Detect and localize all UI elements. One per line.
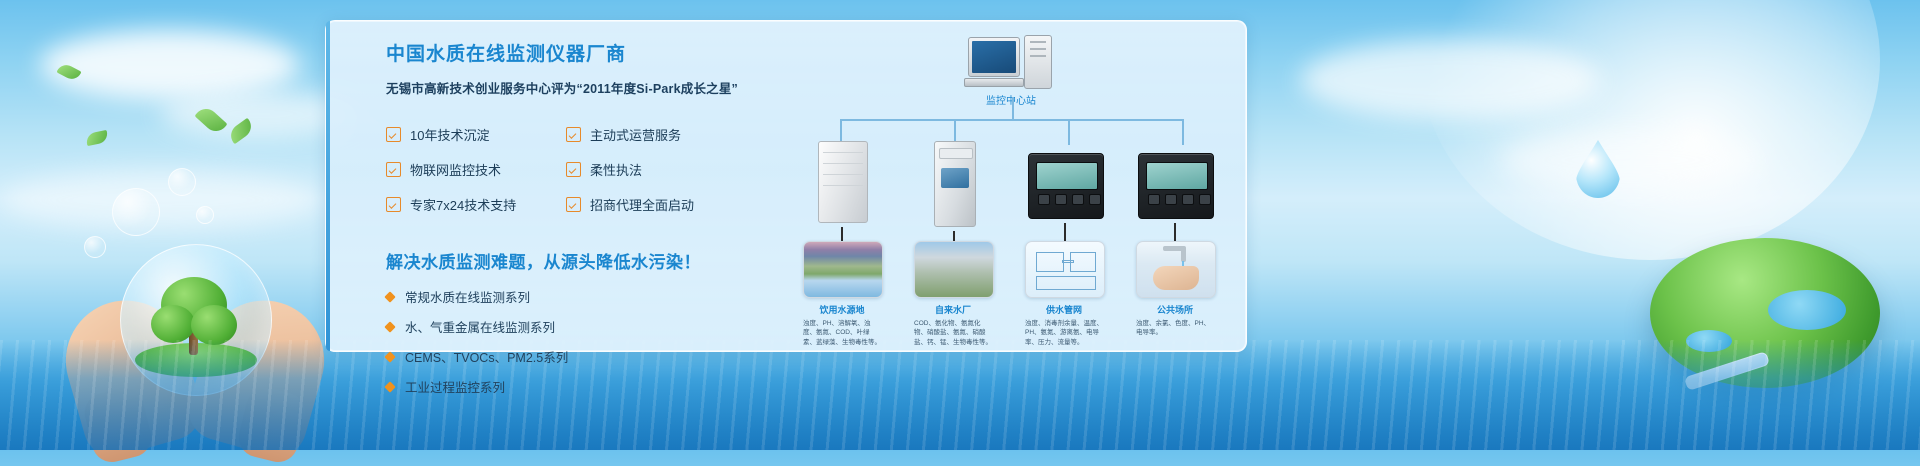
scene-card: 供水管网 浊度、消毒剂余量、温度、PH、氨氮、游离氨、电导率、压力、流量等。 xyxy=(1025,241,1103,347)
list-item: 工业过程监控系列 xyxy=(386,377,786,396)
controller-display xyxy=(1036,162,1098,190)
cloud-5 xyxy=(0,170,320,230)
scene-image-public-place xyxy=(1136,241,1216,298)
scene-image-water-plant xyxy=(914,241,994,298)
diamond-bullet-icon xyxy=(384,351,395,362)
scene-caption: 公共场所 xyxy=(1136,303,1214,316)
scene-description: COD、氨化物、氨氮化物、硝酸盐、氨氮、硝酸盐、钙、锰、生物毒性等。 xyxy=(914,319,992,347)
checkbox-icon xyxy=(566,127,581,142)
device-controller-2 xyxy=(1138,153,1214,219)
scene-card: 饮用水源地 浊度、PH、溶解氧、浊度、氨氮、COD、叶绿素、蓝绿藻、生物毒性等。 xyxy=(803,241,881,347)
pc-tower-icon xyxy=(1024,35,1052,89)
scene-row: 饮用水源地 浊度、PH、溶解氧、浊度、氨氮、COD、叶绿素、蓝绿藻、生物毒性等。… xyxy=(796,241,1236,341)
sea-shine xyxy=(0,340,1920,450)
center-station-label: 监控中心站 xyxy=(951,92,1071,107)
analyzer-icon xyxy=(934,141,976,227)
feature-item: 10年技术沉淀 xyxy=(386,125,566,144)
checkbox-icon xyxy=(386,162,401,177)
device-water-cabinet xyxy=(818,141,868,223)
computer-icon xyxy=(968,37,1054,89)
cabinet-icon xyxy=(818,141,868,223)
left-content-column: 中国水质在线监测仪器厂商 无锡市高新技术创业服务中心评为“2011年度Si-Pa… xyxy=(386,39,786,396)
controller-buttons xyxy=(1148,194,1211,205)
bubble xyxy=(168,168,196,196)
connector-horizontal xyxy=(840,119,1184,121)
scene-card: 公共场所 浊度、余氯、色度、PH、电导率。 xyxy=(1136,241,1214,338)
list-item: 常规水质在线监测系列 xyxy=(386,287,786,306)
scene-description: 浊度、余氯、色度、PH、电导率。 xyxy=(1136,319,1214,338)
controller-display xyxy=(1146,162,1208,190)
device-controller-1 xyxy=(1028,153,1104,219)
controller-buttons xyxy=(1038,194,1101,205)
scene-description: 浊度、消毒剂余量、温度、PH、氨氮、游离氨、电导率、压力、流量等。 xyxy=(1025,319,1103,347)
leaf-icon xyxy=(56,62,81,83)
cloud-1 xyxy=(40,30,300,100)
scene-image-water-source xyxy=(803,241,883,298)
scene-caption: 饮用水源地 xyxy=(803,303,881,316)
feature-checklist: 10年技术沉淀 主动式运营服务 物联网监控技术 柔性执法 专家7x24技术支持 … xyxy=(386,125,786,214)
leaf-icon xyxy=(226,118,255,145)
tree-foliage xyxy=(151,305,195,343)
product-line-label: 水、气重金属在线监测系列 xyxy=(405,317,555,336)
checkbox-icon xyxy=(566,197,581,212)
scene-image-pipe-network xyxy=(1025,241,1105,298)
subtitle: 无锡市高新技术创业服务中心评为“2011年度Si-Park成长之星” xyxy=(386,78,786,97)
product-line-label: 工业过程监控系列 xyxy=(405,377,505,396)
monitor-screen xyxy=(972,41,1016,73)
product-line-list: 常规水质在线监测系列 水、气重金属在线监测系列 CEMS、TVOCs、PM2.5… xyxy=(386,287,786,396)
bubble xyxy=(196,206,214,224)
list-item: CEMS、TVOCs、PM2.5系列 xyxy=(386,347,786,366)
product-line-label: CEMS、TVOCs、PM2.5系列 xyxy=(405,347,568,366)
scene-description: 浊度、PH、溶解氧、浊度、氨氮、COD、叶绿素、蓝绿藻、生物毒性等。 xyxy=(803,319,881,347)
feature-item: 物联网监控技术 xyxy=(386,160,566,179)
product-line-label: 常规水质在线监测系列 xyxy=(405,287,530,306)
island-lake xyxy=(1768,290,1846,330)
device-analyzer-cabinet xyxy=(934,141,976,227)
diamond-bullet-icon xyxy=(384,321,395,332)
leaf-icon xyxy=(194,104,227,136)
feature-item: 专家7x24技术支持 xyxy=(386,195,566,214)
monitoring-center-node: 监控中心站 xyxy=(951,37,1071,107)
controller-icon xyxy=(1138,153,1214,219)
monitor-icon xyxy=(968,37,1020,77)
banner-card: 中国水质在线监测仪器厂商 无锡市高新技术创业服务中心评为“2011年度Si-Pa… xyxy=(325,20,1247,352)
sun-glow xyxy=(1420,0,1880,260)
device-row xyxy=(796,141,1236,231)
bubble xyxy=(112,188,160,236)
section-title: 解决水质监测难题，从源头降低水污染！ xyxy=(386,248,786,273)
checkbox-icon xyxy=(386,197,401,212)
diamond-bullet-icon xyxy=(384,291,395,302)
feature-item: 主动式运营服务 xyxy=(566,125,746,144)
scene-card: 自来水厂 COD、氨化物、氨氮化物、硝酸盐、氨氮、硝酸盐、钙、锰、生物毒性等。 xyxy=(914,241,992,347)
feature-label: 物联网监控技术 xyxy=(410,160,501,179)
feature-label: 招商代理全面启动 xyxy=(590,195,694,214)
tree-foliage xyxy=(191,305,237,345)
page-title: 中国水质在线监测仪器厂商 xyxy=(386,39,786,66)
checkbox-icon xyxy=(566,162,581,177)
keyboard-icon xyxy=(964,78,1024,87)
feature-item: 柔性执法 xyxy=(566,160,746,179)
list-item: 水、气重金属在线监测系列 xyxy=(386,317,786,336)
feature-item: 招商代理全面启动 xyxy=(566,195,746,214)
connector-stem xyxy=(1012,97,1014,119)
leaf-icon xyxy=(85,130,109,146)
scene-caption: 自来水厂 xyxy=(914,303,992,316)
checkbox-icon xyxy=(386,127,401,142)
monitoring-system-diagram: 监控中心站 xyxy=(796,29,1236,344)
controller-icon xyxy=(1028,153,1104,219)
feature-label: 10年技术沉淀 xyxy=(410,125,489,144)
feature-label: 专家7x24技术支持 xyxy=(410,195,516,214)
scene-caption: 供水管网 xyxy=(1025,303,1103,316)
diamond-bullet-icon xyxy=(384,381,395,392)
feature-label: 主动式运营服务 xyxy=(590,125,681,144)
feature-label: 柔性执法 xyxy=(590,160,642,179)
